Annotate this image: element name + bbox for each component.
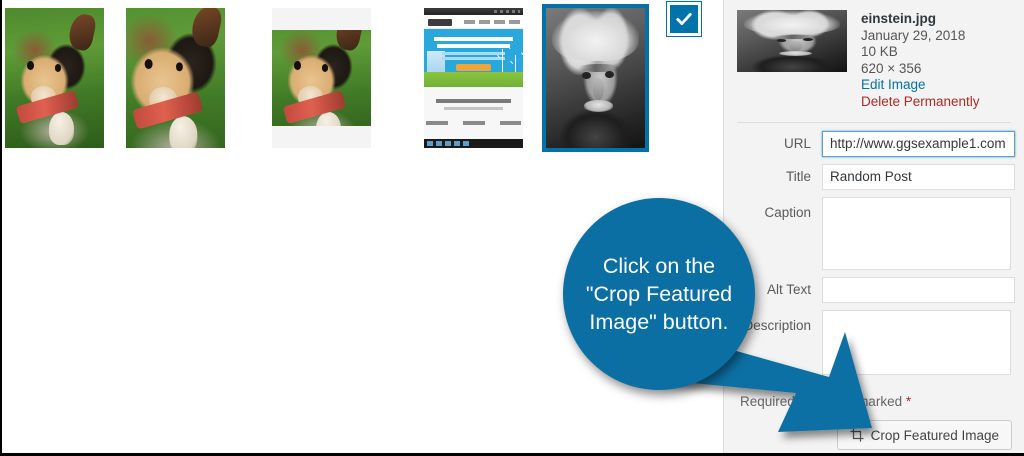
url-input[interactable] <box>822 131 1015 157</box>
caption-textarea[interactable] <box>822 197 1011 270</box>
attachment-summary: einstein.jpg January 29, 2018 10 KB 620 … <box>724 0 1024 111</box>
dog-eye-right <box>55 64 62 72</box>
alt-text-label: Alt Text <box>737 277 822 303</box>
einstein-hair <box>744 11 841 33</box>
einstein-hair <box>552 11 639 61</box>
field-row-caption: Caption <box>737 197 1011 270</box>
einstein-brow <box>578 64 622 72</box>
dog-ear <box>189 8 223 49</box>
os-taskbar <box>424 139 523 148</box>
attachment-preview-thumbnail[interactable] <box>737 10 847 72</box>
hero-subtext <box>442 52 505 60</box>
title-input[interactable] <box>822 164 1015 190</box>
site-logo <box>428 19 452 26</box>
delete-permanently-link[interactable]: Delete Permanently <box>861 94 980 111</box>
crop-featured-image-button[interactable]: Crop Featured Image <box>837 420 1012 450</box>
attachment-fields-form: URL Title Caption Alt Text Description <box>724 123 1024 375</box>
crop-featured-image-label: Crop Featured Image <box>871 428 999 443</box>
einstein-eye-left <box>777 39 787 42</box>
dog-eye-left <box>144 59 152 68</box>
dog-eye-left <box>27 61 34 69</box>
field-row-alt-text: Alt Text <box>737 277 1011 303</box>
media-thumbnail-dog-2[interactable] <box>126 8 225 148</box>
einstein-eye-right <box>803 38 813 41</box>
dog-eye-right <box>322 64 329 72</box>
einstein-nose <box>593 78 605 100</box>
url-label: URL <box>737 131 822 157</box>
caption-label: Caption <box>737 197 822 225</box>
site-navbar <box>424 15 523 29</box>
required-fields-note: Required fields are marked * <box>724 382 1024 409</box>
dog-photo-image <box>5 8 104 148</box>
media-thumbnail-dog-3[interactable] <box>272 8 371 148</box>
einstein-nose <box>789 41 802 51</box>
media-thumbnail-einstein-selected[interactable] <box>542 4 649 152</box>
einstein-mustache <box>779 51 812 56</box>
field-row-description: Description <box>737 310 1011 375</box>
description-textarea[interactable] <box>822 310 1011 375</box>
alt-text-input[interactable] <box>822 277 1015 303</box>
einstein-eye-right <box>605 71 614 78</box>
letterbox-bar-top <box>272 8 371 30</box>
midsection-columns <box>426 121 521 125</box>
attachment-metadata: einstein.jpg January 29, 2018 10 KB 620 … <box>861 10 980 111</box>
dog-photo-image <box>126 8 225 148</box>
site-nav-links <box>464 20 520 24</box>
required-asterisk: * <box>906 394 911 409</box>
media-thumbnail-dog-1[interactable] <box>5 8 104 148</box>
dog-eye-left <box>294 61 301 69</box>
description-label: Description <box>737 310 822 338</box>
einstein-portrait-image <box>546 8 645 148</box>
einstein-mustache <box>584 100 614 111</box>
hero-cta-button <box>456 64 492 71</box>
crop-icon <box>850 428 864 442</box>
field-row-url: URL <box>737 131 1011 157</box>
hero-headline-1 <box>434 37 513 41</box>
attachment-preview-einstein-image <box>737 10 847 72</box>
midsection-subtitle <box>444 107 503 110</box>
dog-chest <box>49 112 75 146</box>
attachment-filename: einstein.jpg <box>861 11 980 28</box>
site-midsection <box>424 87 523 139</box>
browser-titlebar <box>424 8 523 15</box>
dog-eye-right <box>176 62 184 71</box>
screenshot-root: einstein.jpg January 29, 2018 10 KB 620 … <box>0 0 1024 456</box>
hero-headline-2 <box>437 44 510 48</box>
attachment-dimensions: 620 × 356 <box>861 61 980 78</box>
edit-image-link[interactable]: Edit Image <box>861 77 980 94</box>
required-note-text: Required fields are marked <box>740 394 906 409</box>
title-label: Title <box>737 164 822 190</box>
letterbox-bar-bottom <box>272 126 371 148</box>
attachment-filesize: 10 KB <box>861 44 980 61</box>
website-screenshot-image <box>424 8 523 148</box>
checkmark-icon[interactable] <box>667 2 701 36</box>
einstein-eye-left <box>582 72 591 79</box>
hero-grass-strip <box>424 72 523 87</box>
field-row-title: Title <box>737 164 1011 190</box>
dog-chest <box>169 116 198 148</box>
midsection-title <box>436 99 511 103</box>
attachment-details-sidebar: einstein.jpg January 29, 2018 10 KB 620 … <box>723 0 1024 456</box>
dog-ear <box>67 12 98 53</box>
attachment-date: January 29, 2018 <box>861 28 980 45</box>
frame-border-left <box>0 0 2 456</box>
einstein-brow <box>772 35 820 39</box>
media-library-thumbnail-grid <box>0 0 723 456</box>
media-thumbnail-website-screenshot[interactable] <box>424 8 523 148</box>
